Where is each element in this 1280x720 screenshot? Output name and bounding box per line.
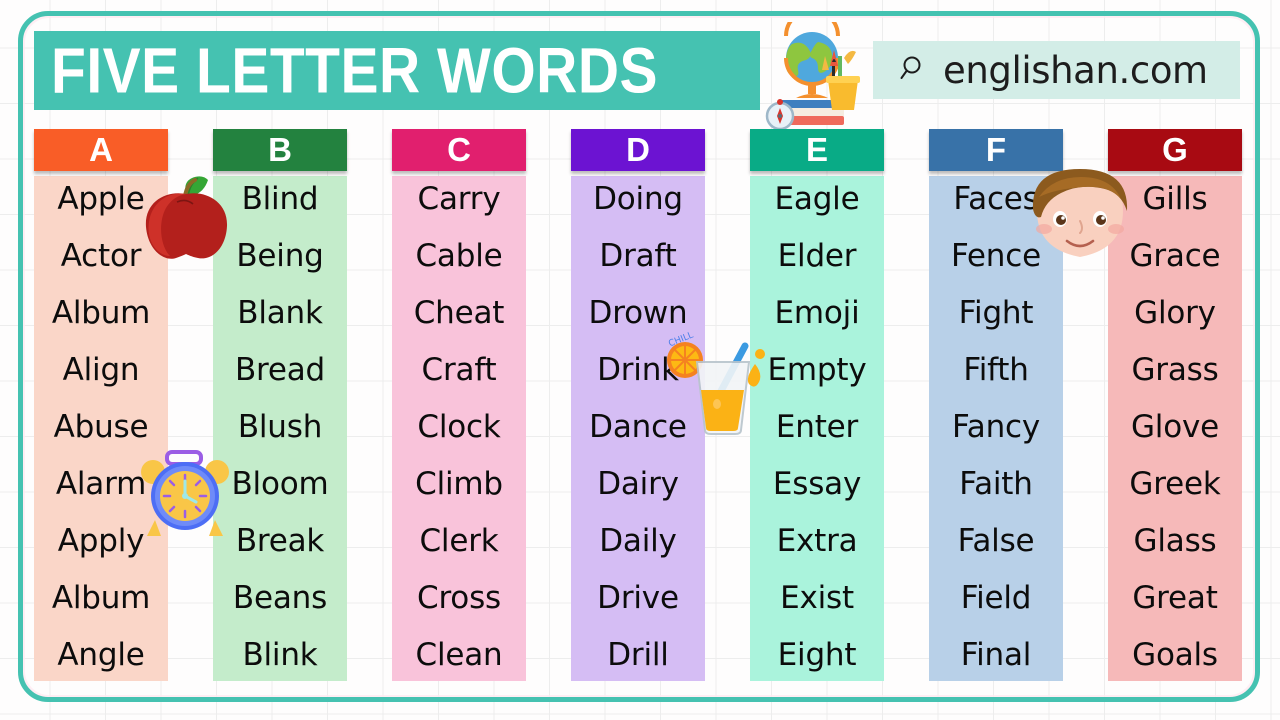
word-item: Cross [417,583,501,614]
letter-column-e: EEagleElderEmojiEmptyEnterEssayExtraExis… [750,129,884,681]
title-banner: FIVE LETTER WORDS [34,31,760,110]
word-item: Carry [418,184,501,215]
word-item: Clerk [419,526,498,557]
column-body-d: DoingDraftDrownDrinkDanceDairyDailyDrive… [571,176,705,681]
letter-column-g: GGillsGraceGloryGrassGloveGreekGlassGrea… [1108,129,1242,681]
word-item: Faith [959,469,1032,500]
word-item: Cable [415,241,502,272]
word-item: Album [52,583,150,614]
letter-column-b: BBlindBeingBlankBreadBlushBloomBreakBean… [213,129,347,681]
globe-books-pencils-art [752,22,872,132]
word-item: Emoji [775,298,860,329]
word-item: Extra [777,526,858,557]
word-item: Abuse [54,412,149,443]
column-body-b: BlindBeingBlankBreadBlushBloomBreakBeans… [213,176,347,681]
word-item: Goals [1132,640,1218,671]
word-item: Bread [235,355,325,386]
word-item: Eight [778,640,857,671]
column-header-e: E [750,129,884,171]
word-item: Climb [415,469,503,500]
word-item: Actor [61,241,142,272]
word-item: Angle [57,640,144,671]
word-columns: AAppleActorAlbumAlignAbuseAlarmApplyAlbu… [34,129,1246,689]
column-body-g: GillsGraceGloryGrassGloveGreekGlassGreat… [1108,176,1242,681]
column-header-b: B [213,129,347,171]
letter-column-d: DDoingDraftDrownDrinkDanceDairyDailyDriv… [571,129,705,681]
word-item: Align [63,355,140,386]
word-item: Field [961,583,1032,614]
word-item: Blind [242,184,319,215]
word-item: Craft [422,355,497,386]
word-item: Blank [237,298,322,329]
word-item: Essay [773,469,861,500]
word-item: Clock [417,412,500,443]
word-item: Fence [951,241,1041,272]
word-item: Elder [778,241,857,272]
word-item: Drown [589,298,688,329]
word-item: Final [961,640,1031,671]
word-item: Blush [238,412,322,443]
word-item: Being [236,241,323,272]
word-item: Enter [776,412,858,443]
word-item: Grass [1131,355,1218,386]
page-title: FIVE LETTER WORDS [34,34,658,108]
word-item: Apple [57,184,144,215]
word-item: Beans [233,583,327,614]
word-item: Drink [597,355,679,386]
site-url-badge[interactable]: englishan.com [873,41,1240,99]
word-item: Great [1132,583,1217,614]
word-item: Apply [58,526,145,557]
word-item: Clean [416,640,503,671]
word-item: Drill [607,640,668,671]
word-item: Faces [953,184,1038,215]
word-item: Fifth [963,355,1028,386]
word-item: Grace [1130,241,1221,272]
word-item: Break [236,526,324,557]
word-item: Dairy [597,469,679,500]
site-url-text: englishan.com [943,49,1208,92]
column-body-c: CarryCableCheatCraftClockClimbClerkCross… [392,176,526,681]
word-item: Fight [959,298,1034,329]
word-item: Dance [589,412,687,443]
column-header-g: G [1108,129,1242,171]
word-item: Alarm [56,469,146,500]
word-item: Exist [780,583,854,614]
word-item: Draft [599,241,676,272]
column-header-c: C [392,129,526,171]
word-item: Blink [242,640,317,671]
column-header-a: A [34,129,168,171]
column-header-f: F [929,129,1063,171]
letter-column-a: AAppleActorAlbumAlignAbuseAlarmApplyAlbu… [34,129,168,681]
word-item: Drive [597,583,679,614]
poster-canvas: FIVE LETTER WORDS [0,0,1280,720]
word-item: Glove [1131,412,1219,443]
word-item: Cheat [414,298,505,329]
word-item: Glory [1134,298,1216,329]
word-item: Glass [1134,526,1217,557]
letter-column-c: CCarryCableCheatCraftClockClimbClerkCros… [392,129,526,681]
word-item: Gills [1142,184,1207,215]
column-body-e: EagleElderEmojiEmptyEnterEssayExtraExist… [750,176,884,681]
word-item: Greek [1129,469,1220,500]
column-header-d: D [571,129,705,171]
word-item: Album [52,298,150,329]
column-body-f: FacesFenceFightFifthFancyFaithFalseField… [929,176,1063,681]
word-item: Empty [768,355,867,386]
column-body-a: AppleActorAlbumAlignAbuseAlarmApplyAlbum… [34,176,168,681]
word-item: Daily [599,526,676,557]
word-item: Eagle [775,184,860,215]
word-item: Doing [593,184,683,215]
word-item: False [958,526,1035,557]
word-item: Fancy [952,412,1040,443]
word-item: Bloom [231,469,328,500]
letter-column-f: FFacesFenceFightFifthFancyFaithFalseFiel… [929,129,1063,681]
search-icon [899,53,929,87]
